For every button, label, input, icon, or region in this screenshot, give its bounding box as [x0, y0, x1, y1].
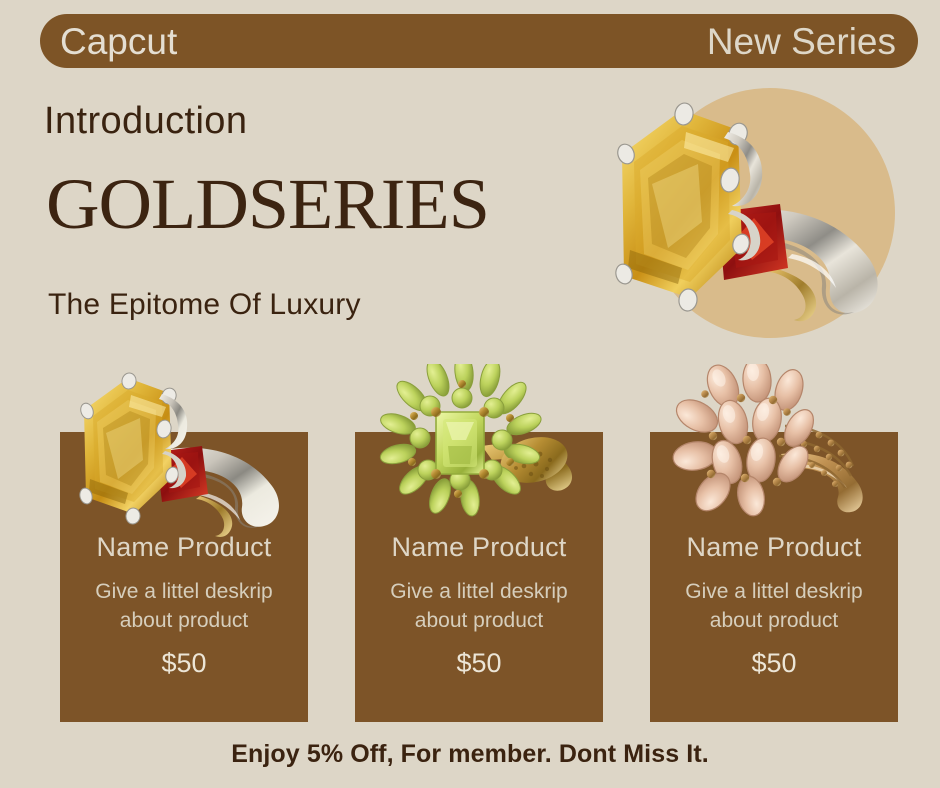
product-price: $50 — [456, 650, 501, 677]
hero-eyebrow: Introduction — [44, 100, 247, 143]
hero-ring-image — [578, 92, 894, 334]
product-name: Name Product — [687, 534, 862, 561]
hero-subtitle: The Epitome Of Luxury — [48, 288, 361, 322]
product-card[interactable]: Name Product Give a littel deskrip about… — [355, 432, 603, 722]
product-price: $50 — [751, 650, 796, 677]
header-bar: Capcut New Series — [40, 14, 918, 68]
product-description: Give a littel deskrip about product — [379, 578, 579, 636]
brand-label: Capcut — [60, 23, 177, 60]
peridot-cluster-ring-image — [366, 364, 592, 536]
product-description: Give a littel deskrip about product — [674, 578, 874, 636]
product-card[interactable]: Name Product Give a littel deskrip about… — [60, 432, 308, 722]
poster-canvas: Capcut New Series Introduction GOLDSERIE… — [0, 0, 940, 788]
citrine-garnet-ring-image — [52, 366, 296, 538]
product-description: Give a littel deskrip about product — [84, 578, 284, 636]
promo-footer: Enjoy 5% Off, For member. Dont Miss It. — [0, 740, 940, 769]
page-title: GOLDSERIES — [46, 168, 489, 240]
series-tag-label: New Series — [707, 23, 896, 60]
product-name: Name Product — [392, 534, 567, 561]
product-card-list: Name Product Give a littel deskrip about… — [60, 432, 898, 722]
product-card[interactable]: Name Product Give a littel deskrip about… — [650, 432, 898, 722]
product-price: $50 — [161, 650, 206, 677]
morganite-cluster-ring-image — [661, 364, 887, 536]
product-name: Name Product — [97, 534, 272, 561]
